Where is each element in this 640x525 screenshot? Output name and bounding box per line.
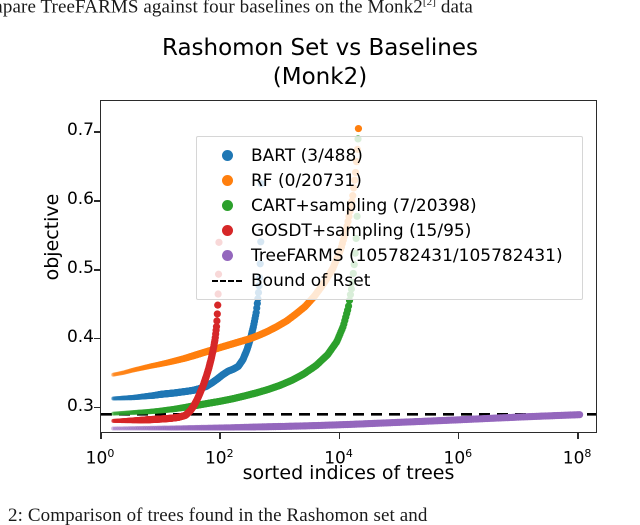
caption-top-suffix: data	[436, 0, 473, 17]
caption-top-citation: [2]	[423, 0, 436, 8]
legend-label: CART+sampling (7/20398)	[251, 196, 477, 216]
x-axis-tick-labels: 100102104106108	[0, 436, 640, 464]
x-tick-mark	[339, 433, 341, 439]
legend-dot-icon	[222, 175, 233, 186]
legend-dot-icon	[222, 200, 233, 211]
y-tick-mark	[94, 269, 100, 271]
x-tick-label: 106	[423, 444, 493, 469]
caption-top-text: mpare TreeFARMS against four baselines o…	[0, 0, 423, 17]
legend-dashed-line-icon	[212, 280, 242, 282]
legend-label: GOSDT+sampling (15/95)	[251, 221, 471, 241]
x-tick-label: 108	[542, 444, 612, 469]
y-tick-label: 0.6	[48, 191, 94, 208]
x-tick-mark	[100, 433, 102, 439]
chart-legend: BART (3/488)RF (0/20731)CART+sampling (7…	[196, 136, 583, 300]
legend-label: BART (3/488)	[251, 146, 363, 166]
legend-dot-icon	[222, 150, 233, 161]
paper-text-above-figure: mpare TreeFARMS against four baselines o…	[0, 0, 628, 22]
y-tick-label: 0.3	[48, 398, 94, 415]
figure-rashomon-set-vs-baselines: Rashomon Set vs Baselines (Monk2) object…	[0, 30, 640, 495]
y-tick-label: 0.7	[48, 122, 94, 139]
x-tick-label: 102	[184, 444, 254, 469]
chart-title: Rashomon Set vs Baselines (Monk2)	[0, 34, 640, 92]
y-tick-mark	[94, 338, 100, 340]
y-axis-tick-labels: 0.30.40.50.60.7	[40, 30, 94, 495]
x-tick-mark	[219, 433, 221, 439]
legend-dot-icon	[222, 225, 233, 236]
x-tick-mark	[577, 433, 579, 439]
legend-item[interactable]: RF (0/20731)	[203, 168, 574, 193]
y-tick-mark	[94, 407, 100, 409]
y-tick-label: 0.4	[48, 329, 94, 346]
legend-item[interactable]: Bound of Rset	[203, 268, 574, 293]
legend-label: TreeFARMS (105782431/105782431)	[251, 246, 563, 266]
legend-item[interactable]: CART+sampling (7/20398)	[203, 193, 574, 218]
legend-item[interactable]: BART (3/488)	[203, 143, 574, 168]
legend-item[interactable]: TreeFARMS (105782431/105782431)	[203, 243, 574, 268]
x-tick-mark	[458, 433, 460, 439]
y-tick-mark	[94, 131, 100, 133]
legend-label: Bound of Rset	[251, 271, 370, 291]
legend-label: RF (0/20731)	[251, 171, 362, 191]
x-tick-label: 104	[304, 444, 374, 469]
y-tick-label: 0.5	[48, 260, 94, 277]
paper-text-below-figure: 2: Comparison of trees found in the Rash…	[8, 505, 640, 525]
legend-dot-icon	[222, 250, 233, 261]
y-tick-mark	[94, 200, 100, 202]
x-tick-label: 100	[65, 444, 135, 469]
legend-item[interactable]: GOSDT+sampling (15/95)	[203, 218, 574, 243]
